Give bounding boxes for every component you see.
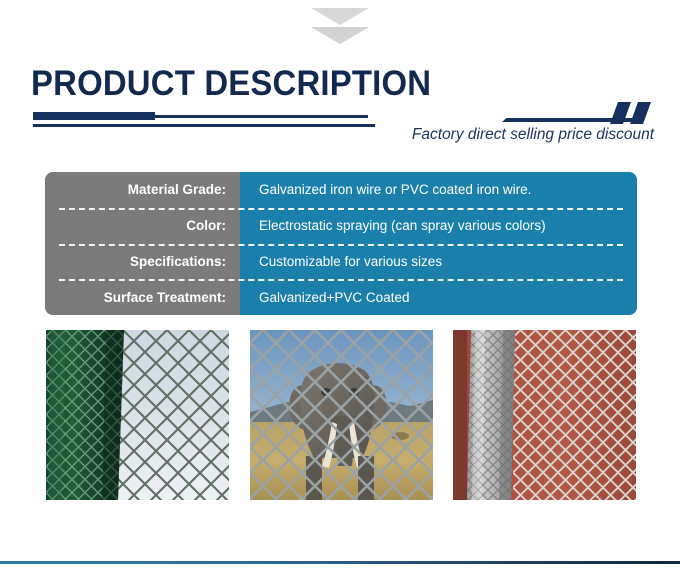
table-row: Color: Electrostatic spraying (can spray… [45,208,637,244]
page-title: PRODUCT DESCRIPTION [31,62,431,106]
quote-mark-icon [608,102,656,124]
title-underline-thin-bottom [33,124,375,127]
heading-block: PRODUCT DESCRIPTION Factory direct selli… [0,62,680,152]
spec-value: Customizable for various sizes [240,244,637,280]
product-photo-elephant-behind-galvanized-chain-link-fence [250,330,433,500]
product-gallery [46,330,636,500]
chevron-down-icon [311,8,369,25]
product-description-page: PRODUCT DESCRIPTION Factory direct selli… [0,0,680,571]
tagline: Factory direct selling price discount [412,124,654,145]
bottom-divider [0,561,680,564]
spec-value: Electrostatic spraying (can spray variou… [240,208,637,244]
table-row: Material Grade: Galvanized iron wire or … [45,172,637,208]
spec-label: Surface Treatment: [45,279,240,315]
spec-label: Specifications: [45,244,240,280]
spec-label: Color: [45,208,240,244]
specification-table: Material Grade: Galvanized iron wire or … [45,172,637,315]
spec-label: Material Grade: [45,172,240,208]
title-underline-thin-top [155,115,368,118]
table-row: Surface Treatment: Galvanized+PVC Coated [45,279,637,315]
spec-value: Galvanized+PVC Coated [240,279,637,315]
product-photo-green-pvc-coated-chain-link-roll [46,330,229,500]
table-row: Specifications: Customizable for various… [45,244,637,280]
title-underline-thick [33,112,155,120]
chevron-down-icon [311,27,369,44]
chevron-decoration [0,8,680,56]
spec-value: Galvanized iron wire or PVC coated iron … [240,172,637,208]
product-photo-galvanized-chain-link-roll-red-wall [453,330,636,500]
